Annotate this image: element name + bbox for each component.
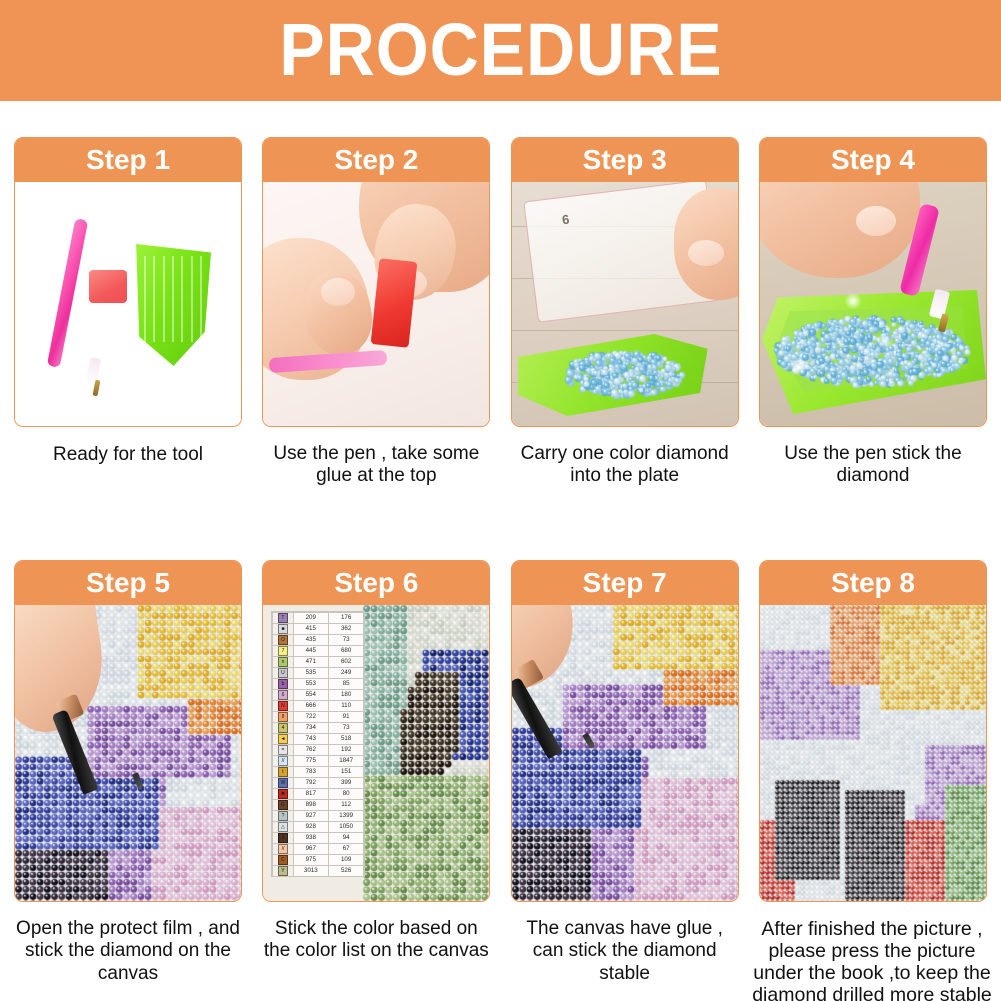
drill-count-cell: 109 (328, 855, 363, 866)
step-caption-3: Carry one color diamond into the plate (511, 443, 739, 488)
drill-count-cell: 399 (328, 778, 363, 789)
drill-count-cell: 192 (328, 745, 363, 756)
color-swatch: 6 (278, 690, 288, 700)
glue-stick (371, 258, 418, 348)
color-swatch: Y (278, 866, 288, 876)
color-chart-row: W792399 (273, 778, 364, 789)
drill-count-cell: 1050 (328, 822, 363, 833)
color-symbol-cell: = (273, 745, 293, 756)
color-swatch: ■ (278, 624, 288, 634)
step-header-label: Step 8 (831, 569, 915, 597)
step-cell-3: Step 3 6 (511, 137, 739, 488)
color-chart-row: ■415362 (273, 624, 364, 635)
step-image-5 (15, 605, 241, 901)
step-header-label: Step 1 (86, 146, 170, 174)
color-symbol-cell: 7 (273, 646, 293, 657)
step-cell-6: Step 6 T209176■415362O435737445680n47160… (262, 560, 490, 1001)
step-card-7[interactable]: Step 7 (511, 560, 739, 902)
dmc-code-cell: 743 (293, 734, 328, 745)
dmc-code-cell: 734 (293, 723, 328, 734)
page-title: PROCEDURE (279, 13, 722, 87)
color-chart-row: ✖81780 (273, 789, 364, 800)
step-card-3[interactable]: Step 3 6 (511, 137, 739, 427)
color-symbol-cell: n (273, 657, 293, 668)
color-symbol-cell: C (273, 855, 293, 866)
color-symbol-cell: // (273, 844, 293, 855)
color-chart-table: T209176■415362O435737445680n471602U53524… (272, 612, 364, 877)
step-caption-6: Stick the color based on the color list … (262, 918, 490, 963)
color-chart-row: U535249 (273, 668, 364, 679)
step-image-7 (512, 605, 738, 901)
drill-count-cell: 680 (328, 646, 363, 657)
color-swatch: 4 (278, 723, 288, 733)
step-image-4 (760, 182, 986, 426)
step-header-7: Step 7 (512, 561, 738, 605)
step-header-6: Step 6 (263, 561, 489, 605)
color-chart-row: n471602 (273, 657, 364, 668)
color-symbol-cell: ? (273, 811, 293, 822)
drill-count-cell: 73 (328, 723, 363, 734)
color-symbol-cell: 6 (273, 690, 293, 701)
tray-pen-photo (760, 182, 986, 426)
step-header-5: Step 5 (15, 561, 241, 605)
dmc-code-cell: 967 (293, 844, 328, 855)
color-swatch: O (278, 635, 288, 645)
hands-glue-photo (263, 182, 489, 426)
dmc-code-cell: 415 (293, 624, 328, 635)
color-symbol-cell: ■ (273, 624, 293, 635)
step-image-2 (263, 182, 489, 426)
step-caption-2: Use the pen , take some glue at the top (262, 443, 490, 488)
color-swatch: // (278, 756, 288, 766)
drill-count-cell: 1847 (328, 756, 363, 767)
dmc-code-cell: 898 (293, 800, 328, 811)
step-caption-4: Use the pen stick the diamond (759, 443, 987, 488)
step-image-8 (760, 605, 986, 901)
color-swatch: U (278, 668, 288, 678)
color-chart-row: Y3013526 (273, 866, 364, 877)
dmc-code-cell: 3013 (293, 866, 328, 877)
color-swatch: n (278, 657, 288, 667)
color-swatch: W (278, 778, 288, 788)
drill-count-cell: 151 (328, 767, 363, 778)
drill-count-cell: 518 (328, 734, 363, 745)
step-card-8[interactable]: Step 8 (759, 560, 987, 902)
step-header-label: Step 4 (831, 146, 915, 174)
color-chart-row: △9281050 (273, 822, 364, 833)
dmc-code-cell: 722 (293, 712, 328, 723)
drill-count-cell: 94 (328, 833, 363, 844)
color-symbol-cell: ✖ (273, 789, 293, 800)
step-header-8: Step 8 (760, 561, 986, 605)
drill-count-cell: 526 (328, 866, 363, 877)
color-swatch: G (278, 800, 288, 810)
step-card-6[interactable]: Step 6 T209176■415362O435737445680n47160… (262, 560, 490, 902)
step-header-label: Step 3 (583, 146, 667, 174)
color-symbol-cell: b (273, 679, 293, 690)
color-swatch: II (278, 712, 288, 722)
step-card-4[interactable]: Step 4 (759, 137, 987, 427)
drill-count-cell: 602 (328, 657, 363, 668)
color-chart-row: C975109 (273, 855, 364, 866)
drill-count-cell: 249 (328, 668, 363, 679)
color-chart-row: 6554180 (273, 690, 364, 701)
dmc-code-cell: 762 (293, 745, 328, 756)
step-header-label: Step 7 (583, 569, 667, 597)
step-caption-7: The canvas have glue , can stick the dia… (511, 918, 739, 985)
step-header-label: Step 2 (334, 146, 418, 174)
color-chart-row: N666110 (273, 701, 364, 712)
step-cell-7: Step 7 The canvas have glue , can stick … (511, 560, 739, 1001)
color-swatch: ✖ (278, 789, 288, 799)
color-swatch: 7 (278, 646, 288, 656)
green-tray-icon (133, 244, 211, 366)
drill-count-cell: 180 (328, 690, 363, 701)
color-symbol-cell: t (273, 767, 293, 778)
step-caption-8: After finished the picture , please pres… (741, 918, 1001, 1001)
drill-count-cell: 67 (328, 844, 363, 855)
color-swatch: C (278, 855, 288, 865)
step-card-5[interactable]: Step 5 (14, 560, 242, 902)
color-chart-row: O43573 (273, 635, 364, 646)
step-header-1: Step 1 (15, 138, 241, 182)
color-symbol-cell: 4 (273, 723, 293, 734)
color-symbol-cell: T (273, 613, 293, 624)
dmc-code-cell: 928 (293, 822, 328, 833)
dmc-code-cell: 435 (293, 635, 328, 646)
step-caption-5: Open the protect film , and stick the di… (14, 918, 242, 985)
color-chart-row: b55385 (273, 679, 364, 690)
color-chart-row: t783151 (273, 767, 364, 778)
color-symbol-cell: △ (273, 822, 293, 833)
dmc-code-cell: 783 (293, 767, 328, 778)
procedure-infographic: PROCEDURE Step 1 (0, 0, 1001, 1001)
color-swatch: N (278, 701, 288, 711)
page-banner: PROCEDURE (0, 0, 1001, 101)
color-chart-row: 473473 (273, 723, 364, 734)
drill-count-cell: 362 (328, 624, 363, 635)
color-symbol-cell: 3 (273, 833, 293, 844)
step-cell-2: Step 2 (262, 137, 490, 488)
dmc-code-cell: 471 (293, 657, 328, 668)
drill-count-cell: 73 (328, 635, 363, 646)
color-chart-row: II72291 (273, 712, 364, 723)
step-header-label: Step 6 (334, 569, 418, 597)
step-header-label: Step 5 (86, 569, 170, 597)
color-swatch: △ (278, 822, 288, 832)
color-symbol-cell: Y (273, 866, 293, 877)
dmc-code-cell: 445 (293, 646, 328, 657)
color-symbol-cell: ◄ (273, 734, 293, 745)
color-swatch: b (278, 679, 288, 689)
pouring-diamonds-photo: 6 (512, 182, 738, 426)
color-chart-row: G898112 (273, 800, 364, 811)
color-chart-row: 7445680 (273, 646, 364, 657)
drill-count-cell: 91 (328, 712, 363, 723)
color-chart-row: T209176 (273, 613, 364, 624)
color-swatch: ◄ (278, 734, 288, 744)
dmc-code-cell: 792 (293, 778, 328, 789)
step-header-4: Step 4 (760, 138, 986, 182)
color-chart-row: //96767 (273, 844, 364, 855)
blue-drills-canvas (512, 182, 738, 426)
step-header-2: Step 2 (263, 138, 489, 182)
dmc-code-cell: 938 (293, 833, 328, 844)
dmc-code-cell: 975 (293, 855, 328, 866)
color-symbol-cell: N (273, 701, 293, 712)
step-caption-1: Ready for the tool (14, 443, 242, 467)
drill-count-cell: 110 (328, 701, 363, 712)
drill-count-cell: 85 (328, 679, 363, 690)
color-chart-row: ◄743518 (273, 734, 364, 745)
color-swatch: ? (278, 811, 288, 821)
drill-count-cell: 80 (328, 789, 363, 800)
color-symbol-cell: II (273, 712, 293, 723)
dmc-code-cell: 775 (293, 756, 328, 767)
tools-photo (15, 182, 241, 426)
color-symbol-cell: U (273, 668, 293, 679)
drill-count-cell: 176 (328, 613, 363, 624)
steps-row-top: Step 1 (0, 137, 1001, 488)
color-chart-row: ?9271399 (273, 811, 364, 822)
blue-drills-canvas (760, 182, 986, 426)
steps-row-bottom: Step 5 Open the protect film , and stick… (0, 560, 1001, 1001)
dmc-code-cell: 817 (293, 789, 328, 800)
color-symbol-cell: G (273, 800, 293, 811)
color-chart-row: 393894 (273, 833, 364, 844)
drill-count-cell: 1399 (328, 811, 363, 822)
color-swatch: = (278, 745, 288, 755)
glue-square-icon (89, 270, 127, 303)
color-symbol-cell: O (273, 635, 293, 646)
step-card-1[interactable]: Step 1 (14, 137, 242, 427)
steps-grid: Step 1 (0, 101, 1001, 1001)
step-cell-8: Step 8 After finished the picture , plea… (759, 560, 987, 1001)
dmc-code-cell: 927 (293, 811, 328, 822)
color-swatch: t (278, 767, 288, 777)
color-symbol-cell: // (273, 756, 293, 767)
pink-pen-icon (47, 218, 88, 368)
step-cell-1: Step 1 (14, 137, 242, 488)
step-image-6: T209176■415362O435737445680n471602U53524… (263, 605, 489, 901)
dmc-code-cell: 535 (293, 668, 328, 679)
step-image-1 (15, 182, 241, 426)
color-chart-row: =762192 (273, 745, 364, 756)
step-header-3: Step 3 (512, 138, 738, 182)
color-swatch: 3 (278, 833, 288, 843)
dmc-code-cell: 554 (293, 690, 328, 701)
step-cell-4: Step 4 (759, 137, 987, 488)
mosaic-canvas (760, 605, 986, 901)
dmc-code-cell: 666 (293, 701, 328, 712)
dmc-code-cell: 553 (293, 679, 328, 690)
drill-count-cell: 112 (328, 800, 363, 811)
color-chart: T209176■415362O435737445680n471602U53524… (271, 611, 365, 877)
dmc-code-cell: 209 (293, 613, 328, 624)
step-card-2[interactable]: Step 2 (262, 137, 490, 427)
color-symbol-cell: W (273, 778, 293, 789)
color-swatch: T (278, 613, 288, 623)
color-chart-row: //7751847 (273, 756, 364, 767)
step-image-3: 6 (512, 182, 738, 426)
color-swatch: // (278, 844, 288, 854)
step-cell-5: Step 5 Open the protect film , and stick… (14, 560, 242, 1001)
